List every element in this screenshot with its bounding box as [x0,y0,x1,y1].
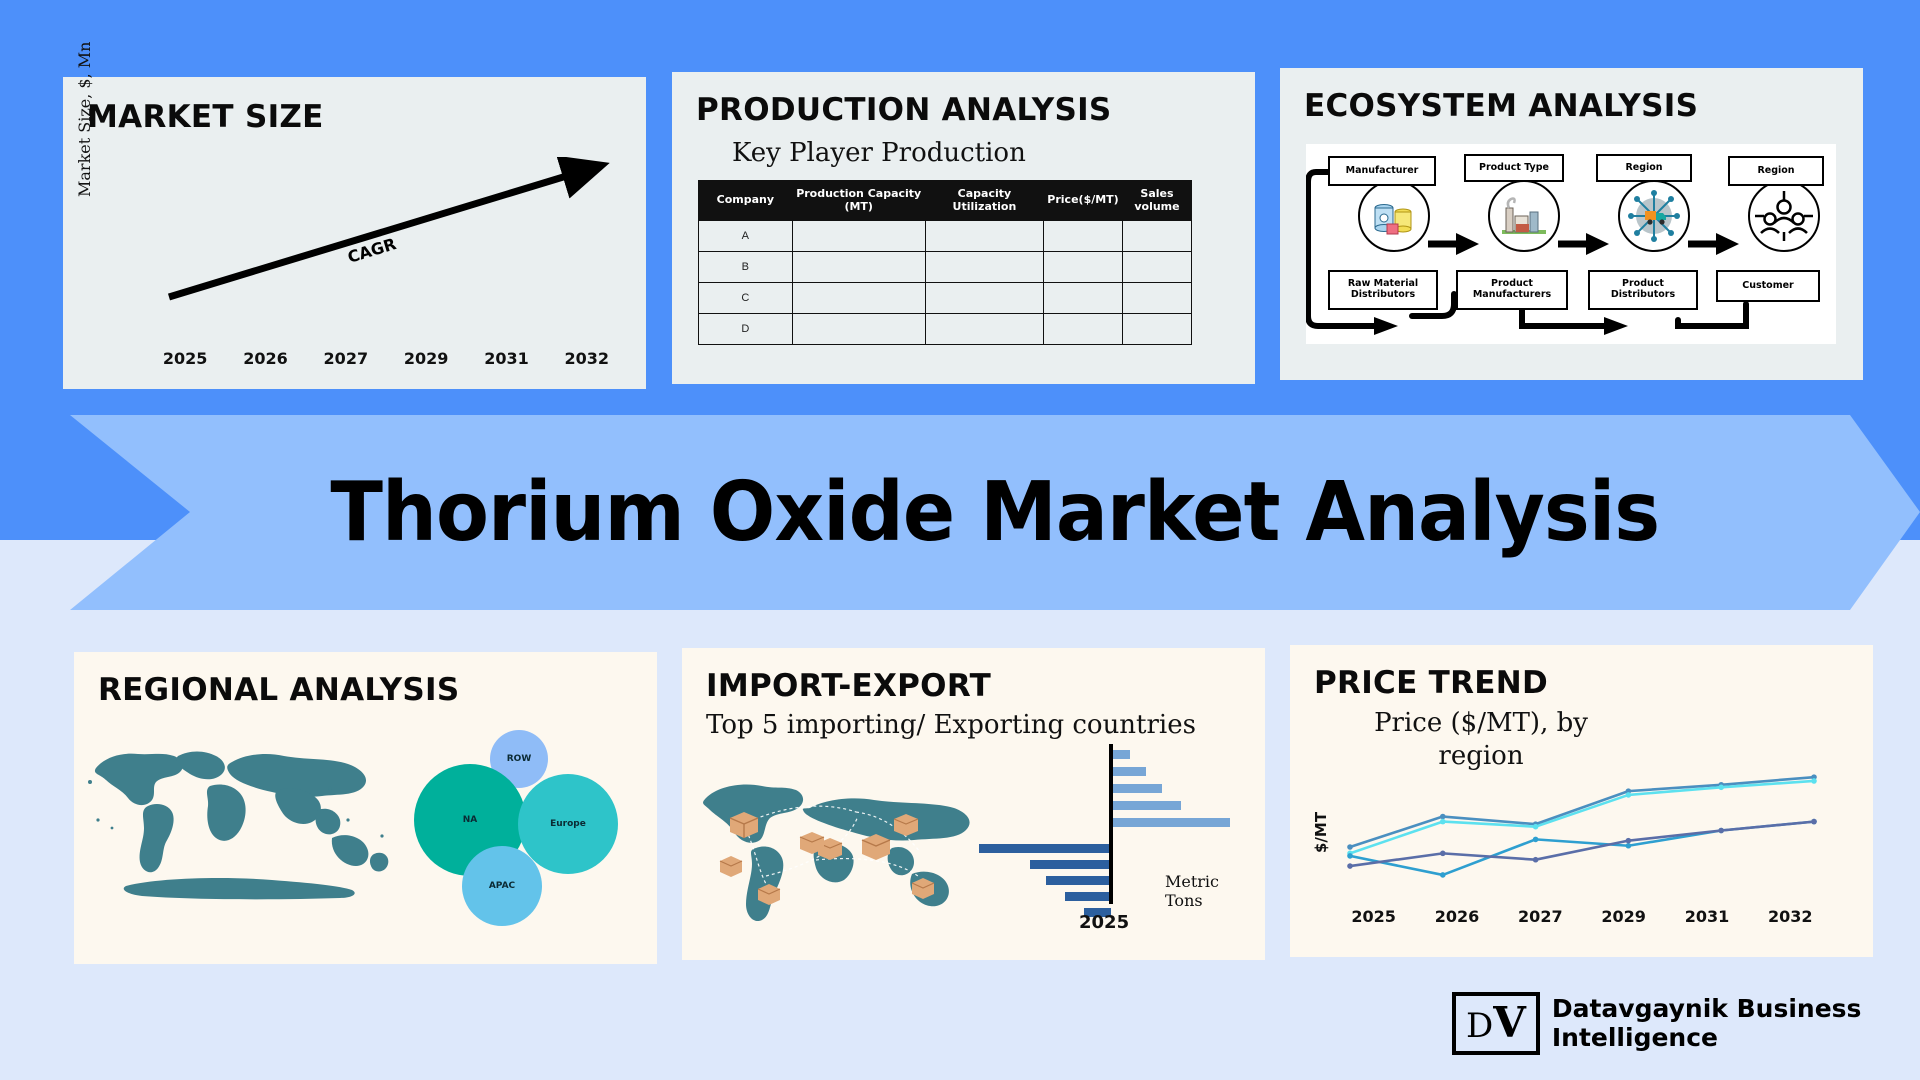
eco-top-label-2: Region [1596,154,1692,182]
card-regional-analysis: REGIONAL ANALYSIS ROWNAEuropeAPAC [74,652,657,964]
world-map-icon [82,724,402,914]
export-bar-0 [979,844,1111,853]
import-bar-3 [1111,801,1181,810]
column-header-0: Company [699,181,793,221]
column-header-1: Production Capacity(MT) [792,181,925,221]
price-x-tick-2025: 2025 [1332,907,1415,926]
cell-r2-c3 [1044,283,1123,314]
x-tick-2027: 2027 [312,349,380,368]
x-tick-2026: 2026 [231,349,299,368]
page-title: Thorium Oxide Market Analysis [331,465,1660,560]
point-s2-3 [1626,843,1632,849]
price-trend-lines [1332,763,1832,898]
tornado-year-label: 2025 [1079,912,1129,933]
brand-logo: D V Datavgaynik Business Intelligence [1452,992,1902,1055]
import-export-subtitle: Top 5 importing/ Exporting countries [706,710,1196,740]
x-tick-2032: 2032 [553,349,621,368]
ecosystem-diagram: Manufacturer Product Type Region Region … [1306,144,1836,344]
card-market-size: MARKET SIZE Market Size, $, Mn CAGR 2025… [63,77,646,389]
import-bar-2 [1111,784,1162,793]
price-trend-title: PRICE TREND [1314,665,1548,701]
table-row: D [699,314,1192,345]
cell-r3-c2 [925,314,1043,345]
cell-r1-c0: B [699,252,793,283]
price-trend-y-axis-label: $/MT [1312,812,1330,853]
import-export-title: IMPORT-EXPORT [706,668,991,704]
trade-flow-map-icon [696,756,986,931]
table-header-row: CompanyProduction Capacity(MT)Capacity U… [699,181,1192,221]
card-ecosystem-analysis: ECOSYSTEM ANALYSIS [1280,68,1863,380]
production-analysis-title: PRODUCTION ANALYSIS [696,92,1112,128]
eco-bottom-label-3: Customer [1716,270,1820,302]
tornado-center-axis [1109,744,1113,904]
cell-r2-c0: C [699,283,793,314]
market-size-y-axis-label: Market Size, $, Mn [75,42,94,197]
import-bar-1 [1111,767,1146,776]
export-bar-1 [1030,860,1111,869]
price-trend-x-labels: 202520262027202920312032 [1332,907,1832,926]
import-export-tornado-chart: Metric Tons 2025 [997,744,1247,944]
cell-r2-c4 [1122,283,1191,314]
main-banner: Thorium Oxide Market Analysis [70,415,1920,610]
card-import-export: IMPORT-EXPORT Top 5 importing/ Exporting… [682,648,1265,960]
point-s3-2 [1533,857,1539,863]
ecosystem-analysis-title: ECOSYSTEM ANALYSIS [1304,88,1698,124]
price-x-tick-2027: 2027 [1499,907,1582,926]
cell-r0-c0: A [699,221,793,252]
table-row: B [699,252,1192,283]
price-x-tick-2031: 2031 [1665,907,1748,926]
market-size-title: MARKET SIZE [87,99,324,135]
point-s1-5 [1811,778,1817,784]
cell-r1-c3 [1044,252,1123,283]
table-body: ABCD [699,221,1192,345]
infographic-canvas: MARKET SIZE Market Size, $, Mn CAGR 2025… [0,0,1920,1080]
cell-r0-c4 [1122,221,1191,252]
logo-letter-d: D [1466,1006,1493,1046]
cell-r3-c3 [1044,314,1123,345]
cell-r1-c4 [1122,252,1191,283]
point-s3-0 [1347,863,1353,869]
point-s1-2 [1533,824,1539,830]
card-price-trend: PRICE TREND Price ($/MT), by region $/MT… [1290,645,1873,957]
price-x-tick-2026: 2026 [1415,907,1498,926]
barrels-icon [1358,180,1430,252]
cell-r3-c0: D [699,314,793,345]
export-bar-2 [1046,876,1111,885]
metric-tons-label: Metric Tons [1165,872,1247,910]
market-size-x-labels: 202520262027202920312032 [151,349,621,368]
eco-top-label-1: Product Type [1464,154,1564,182]
x-tick-2031: 2031 [472,349,540,368]
point-s1-3 [1626,792,1632,798]
point-s3-3 [1626,838,1632,844]
point-s0-0 [1347,844,1353,850]
cell-r1-c1 [792,252,925,283]
region-bubbles: ROWNAEuropeAPAC [414,730,624,930]
column-header-3: Price($/MT) [1044,181,1123,221]
cell-r0-c3 [1044,221,1123,252]
region-bubble-apac: APAC [462,846,542,926]
x-tick-2029: 2029 [392,349,460,368]
table-row: A [699,221,1192,252]
distribution-network-icon [1618,180,1690,252]
point-s2-0 [1347,853,1353,859]
region-bubble-europe: Europe [518,774,618,874]
cell-r2-c1 [792,283,925,314]
eco-bottom-label-0: Raw Material Distributors [1328,270,1438,310]
logo-letter-v: V [1493,998,1526,1047]
point-s3-5 [1811,819,1817,825]
logo-company-name: Datavgaynik Business Intelligence [1552,995,1902,1052]
key-player-production-table: CompanyProduction Capacity(MT)Capacity U… [698,180,1192,345]
point-s3-1 [1440,851,1446,857]
export-bar-3 [1065,892,1111,901]
price-x-tick-2029: 2029 [1582,907,1665,926]
column-header-4: Sales volume [1122,181,1191,221]
cell-r1-c2 [925,252,1043,283]
cell-r0-c2 [925,221,1043,252]
point-s1-1 [1440,819,1446,825]
cell-r0-c1 [792,221,925,252]
point-s2-1 [1440,872,1446,878]
eco-bottom-label-2: Product Distributors [1588,270,1698,310]
card-production-analysis: PRODUCTION ANALYSIS Key Player Productio… [672,72,1255,384]
cell-r2-c2 [925,283,1043,314]
point-s2-2 [1533,837,1539,843]
regional-analysis-title: REGIONAL ANALYSIS [98,672,459,708]
table-row: C [699,283,1192,314]
point-s3-4 [1718,828,1724,834]
production-analysis-subtitle: Key Player Production [732,138,1026,168]
factory-icon [1488,180,1560,252]
point-s0-1 [1440,814,1446,820]
point-s1-4 [1718,785,1724,791]
eco-top-label-3: Region [1728,156,1824,186]
x-tick-2025: 2025 [151,349,219,368]
cell-r3-c1 [792,314,925,345]
customer-group-icon [1748,180,1820,252]
logo-mark-dv: D V [1452,992,1540,1055]
column-header-2: Capacity Utilization [925,181,1043,221]
price-x-tick-2032: 2032 [1749,907,1832,926]
import-bar-0 [1111,750,1130,759]
import-bar-4 [1111,818,1230,827]
eco-bottom-label-1: Product Manufacturers [1456,270,1568,310]
cell-r3-c4 [1122,314,1191,345]
market-size-plot: CAGR 202520262027202920312032 [151,157,621,372]
eco-top-label-0: Manufacturer [1328,156,1436,186]
